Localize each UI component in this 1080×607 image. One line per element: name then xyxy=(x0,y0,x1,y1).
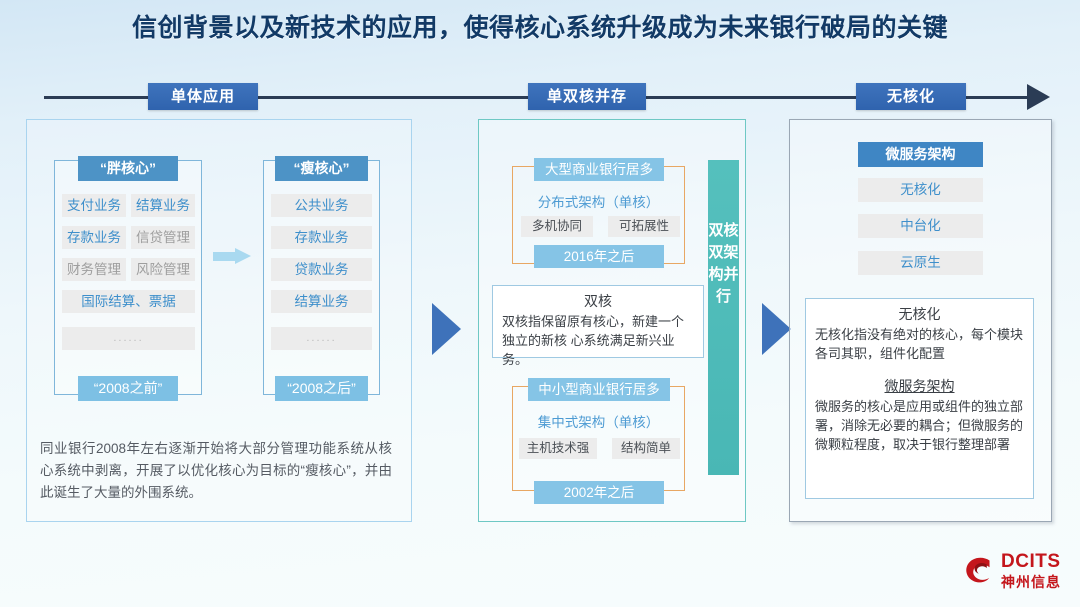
fat-core-caption: “胖核心” xyxy=(78,156,178,181)
thin-cell-1: 存款业务 xyxy=(271,226,372,249)
fat-cell-1: 结算业务 xyxy=(131,194,195,217)
coreless-note-title-1: 无核化 xyxy=(806,299,1033,324)
small-bank-tag-1: 结构简单 xyxy=(612,438,680,459)
transition-arrow-icon xyxy=(213,248,251,264)
fat-cell-0: 支付业务 xyxy=(62,194,126,217)
fat-cell-4: 财务管理 xyxy=(62,258,126,281)
microservice-header: 微服务架构 xyxy=(858,142,983,167)
coreless-note-body-1: 无核化指没有绝对的核心，每个模块各司其职，组件化配置 xyxy=(806,324,1033,363)
fat-cell-7: ...... xyxy=(62,327,195,350)
fat-cell-5: 风险管理 xyxy=(131,258,195,281)
right-cell-2: 云原生 xyxy=(858,251,983,275)
thin-cell-0: 公共业务 xyxy=(271,194,372,217)
coreless-note-body-2: 微服务的核心是应用或组件的独立部署，消除无必要的耦合；但微服务的微颗粒程度，取决… xyxy=(806,396,1033,454)
timeline-phase-1[interactable]: 单双核并存 xyxy=(528,83,646,110)
panel-left-description: 同业银行2008年左右逐渐开始将大部分管理功能系统从核心系统中剥离，开展了以优化… xyxy=(40,438,392,504)
thin-core-year: “2008之后” xyxy=(275,376,368,401)
dual-core-note: 双核 双核指保留原有核心，新建一个独立的新核 心系统满足新兴业务。 xyxy=(492,285,704,358)
page-title: 信创背景以及新技术的应用，使得核心系统升级成为未来银行破局的关键 xyxy=(0,8,1080,44)
thin-core-caption: “瘦核心” xyxy=(275,156,368,181)
small-bank-caption: 中小型商业银行居多 xyxy=(528,378,670,401)
timeline-phase-0[interactable]: 单体应用 xyxy=(148,83,258,110)
dual-core-vertical-banner: 双核双架构并行 xyxy=(708,160,739,475)
large-bank-year: 2016年之后 xyxy=(534,245,664,268)
coreless-note: 无核化 无核化指没有绝对的核心，每个模块各司其职，组件化配置 微服务架构 微服务… xyxy=(805,298,1034,499)
thin-cell-3: 结算业务 xyxy=(271,290,372,313)
dual-core-note-body: 双核指保留原有核心，新建一个独立的新核 心系统满足新兴业务。 xyxy=(493,311,703,369)
small-bank-subtitle: 集中式架构（单核） xyxy=(512,411,685,431)
logo-cn-text: 神州信息 xyxy=(1001,572,1061,592)
timeline-arrow-icon xyxy=(1027,84,1050,110)
flow-arrow-2-icon xyxy=(762,303,791,355)
dcits-swirl-icon xyxy=(963,553,997,587)
large-bank-subtitle: 分布式架构（单核） xyxy=(512,191,685,211)
fat-cell-3: 信贷管理 xyxy=(131,226,195,249)
coreless-note-title-2: 微服务架构 xyxy=(806,363,1033,396)
thin-cell-2: 贷款业务 xyxy=(271,258,372,281)
flow-arrow-1-icon xyxy=(432,303,461,355)
slide-root: 信创背景以及新技术的应用，使得核心系统升级成为未来银行破局的关键 单体应用 单双… xyxy=(0,0,1080,607)
large-bank-caption: 大型商业银行居多 xyxy=(534,158,664,181)
timeline-phase-2[interactable]: 无核化 xyxy=(856,83,966,110)
right-cell-1: 中台化 xyxy=(858,214,983,238)
company-logo: DCITS 神州信息 xyxy=(963,549,1069,593)
dual-core-note-title: 双核 xyxy=(493,286,703,311)
small-bank-year: 2002年之后 xyxy=(534,481,664,504)
thin-cell-4: ...... xyxy=(271,327,372,350)
large-bank-tag-1: 可拓展性 xyxy=(608,216,680,237)
fat-core-year: “2008之前” xyxy=(78,376,178,401)
large-bank-tag-0: 多机协同 xyxy=(521,216,593,237)
small-bank-tag-0: 主机技术强 xyxy=(519,438,597,459)
right-cell-0: 无核化 xyxy=(858,178,983,202)
dual-core-vertical-text: 双核双架构并行 xyxy=(708,160,739,308)
fat-cell-6: 国际结算、票据 xyxy=(62,290,195,313)
logo-brand-text: DCITS xyxy=(1001,551,1061,573)
fat-cell-2: 存款业务 xyxy=(62,226,126,249)
